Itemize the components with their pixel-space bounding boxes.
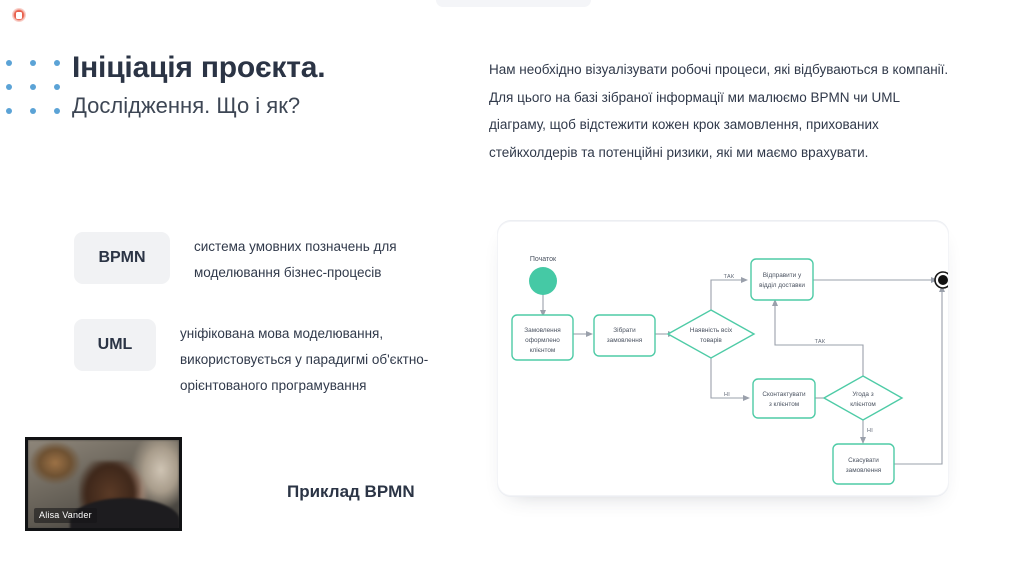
- glossary-list: BPMN система умовних позначень для модел…: [74, 232, 474, 420]
- gateway-label-agreement-l2: клієнтом: [850, 400, 876, 408]
- bpmn-diagram-svg: ТАК НІ ТАК НІ Початок Замовлення оформле…: [498, 222, 949, 496]
- page-subtitle: Дослідження. Що і як?: [72, 92, 472, 121]
- glossary-item-uml: UML уніфікована мова моделювання, викори…: [74, 307, 474, 398]
- task-node-order-placed[interactable]: Замовлення оформлено клієнтом: [512, 315, 573, 360]
- arrowhead: [860, 437, 866, 444]
- edge-label-yes-mid: ТАК: [815, 339, 826, 345]
- glossary-item-bpmn: BPMN система умовних позначень для модел…: [74, 232, 474, 285]
- edge-label-no-left: НІ: [724, 392, 730, 398]
- task-label-send-delivery-l1: Відправити у: [763, 271, 802, 279]
- task-label-order-placed-l2: оформлено: [525, 337, 560, 344]
- task-label-order-placed-l3: клієнтом: [530, 346, 556, 354]
- gateway-node-all-goods[interactable]: Наявність всіх товарів: [668, 310, 754, 358]
- end-event-node[interactable]: [935, 272, 949, 288]
- edge-decision-yes-to-send: [711, 280, 743, 312]
- task-label-order-placed-l1: Замовлення: [524, 327, 561, 334]
- gateway-label-all-goods-l1: Наявність всіх: [690, 326, 733, 334]
- decorative-dot-grid: [6, 60, 66, 120]
- diagram-edges: [540, 277, 945, 464]
- edge-label-yes-top: ТАК: [724, 274, 735, 280]
- webcam-video-tile[interactable]: Alisa Vander: [25, 437, 182, 531]
- bpmn-diagram-card[interactable]: ТАК НІ ТАК НІ Початок Замовлення оформле…: [497, 221, 949, 496]
- intro-paragraph: Нам необхідно візуалізувати робочі проце…: [489, 56, 949, 167]
- task-node-collect-order[interactable]: Зібрати замовлення: [594, 315, 655, 356]
- arrowhead: [586, 331, 593, 337]
- term-definition-bpmn: система умовних позначень для моделюванн…: [194, 232, 444, 285]
- page-title: Ініціація проєкта.: [72, 50, 472, 86]
- task-node-contact-client[interactable]: Сконтактувати з клієнтом: [753, 379, 815, 418]
- gateway-label-agreement-l1: Угода з: [852, 391, 873, 398]
- top-notch-bar: [436, 0, 591, 7]
- recording-indicator-icon[interactable]: [12, 8, 26, 22]
- arrowhead: [741, 277, 748, 283]
- task-label-collect-order-l1: Зібрати: [613, 326, 636, 334]
- gateway-node-agreement[interactable]: Угода з клієнтом: [824, 376, 902, 420]
- task-label-cancel-order-l2: замовлення: [846, 467, 882, 474]
- webcam-participant-name: Alisa Vander: [34, 508, 97, 523]
- start-node-label: Початок: [530, 256, 557, 263]
- edge-cancel-to-end: [893, 290, 942, 464]
- term-definition-uml: уніфікована мова моделювання, використов…: [180, 307, 430, 398]
- task-node-cancel-order[interactable]: Скасувати замовлення: [833, 444, 894, 484]
- title-block: Ініціація проєкта. Дослідження. Що і як?: [72, 50, 472, 121]
- task-label-contact-client-l2: з клієнтом: [769, 400, 799, 408]
- gateway-label-all-goods-l2: товарів: [700, 336, 722, 344]
- term-chip-bpmn: BPMN: [74, 232, 170, 284]
- task-label-send-delivery-l2: відділ доставки: [759, 281, 805, 289]
- task-label-cancel-order-l1: Скасувати: [848, 457, 879, 464]
- arrowhead: [743, 395, 750, 401]
- term-chip-uml: UML: [74, 319, 156, 371]
- task-node-send-delivery[interactable]: Відправити у відділ доставки: [751, 259, 813, 300]
- task-label-collect-order-l2: замовлення: [607, 337, 643, 344]
- bpmn-example-caption: Приклад BPMN: [287, 482, 415, 502]
- edge-label-no-bottom: НІ: [867, 428, 873, 434]
- start-event-node[interactable]: [529, 267, 557, 295]
- task-label-contact-client-l1: Сконтактувати: [762, 391, 806, 398]
